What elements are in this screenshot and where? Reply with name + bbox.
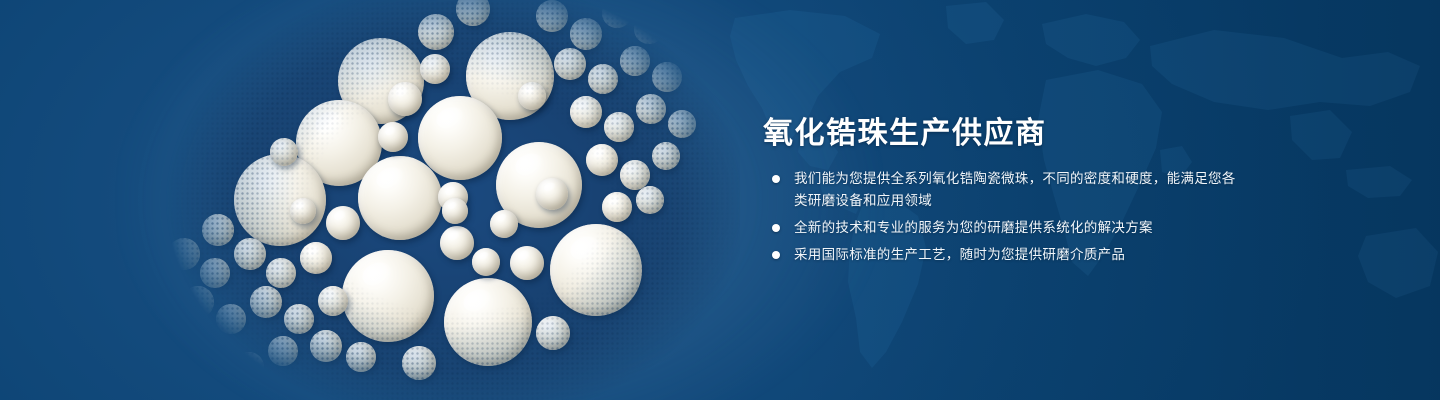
list-item-text: 采用国际标准的生产工艺，随时为您提供研磨介质产品 — [794, 247, 1125, 262]
list-item: 采用国际标准的生产工艺，随时为您提供研磨介质产品 — [766, 244, 1246, 266]
list-item: 全新的技术和专业的服务为您的研磨提供系统化的解决方案 — [766, 217, 1246, 239]
bullet-dot-icon — [772, 175, 780, 183]
halftone-texture — [150, 0, 740, 400]
bullet-dot-icon — [772, 224, 780, 232]
bullet-dot-icon — [772, 251, 780, 259]
list-item-text: 全新的技术和专业的服务为您的研磨提供系统化的解决方案 — [794, 220, 1153, 235]
product-photo-zirconia-beads — [150, 0, 740, 400]
banner-headline: 氧化锆珠生产供应商 — [763, 108, 1047, 152]
banner-feature-list: 我们能为您提供全系列氧化锆陶瓷微珠，不同的密度和硬度，能满足您各类研磨设备和应用… — [766, 168, 1246, 271]
list-item-text: 我们能为您提供全系列氧化锆陶瓷微珠，不同的密度和硬度，能满足您各类研磨设备和应用… — [794, 171, 1236, 208]
banner-content: 氧化锆珠生产供应商 我们能为您提供全系列氧化锆陶瓷微珠，不同的密度和硬度，能满足… — [763, 0, 1323, 400]
hero-banner: 氧化锆珠生产供应商 我们能为您提供全系列氧化锆陶瓷微珠，不同的密度和硬度，能满足… — [0, 0, 1440, 400]
list-item: 我们能为您提供全系列氧化锆陶瓷微珠，不同的密度和硬度，能满足您各类研磨设备和应用… — [766, 168, 1246, 212]
